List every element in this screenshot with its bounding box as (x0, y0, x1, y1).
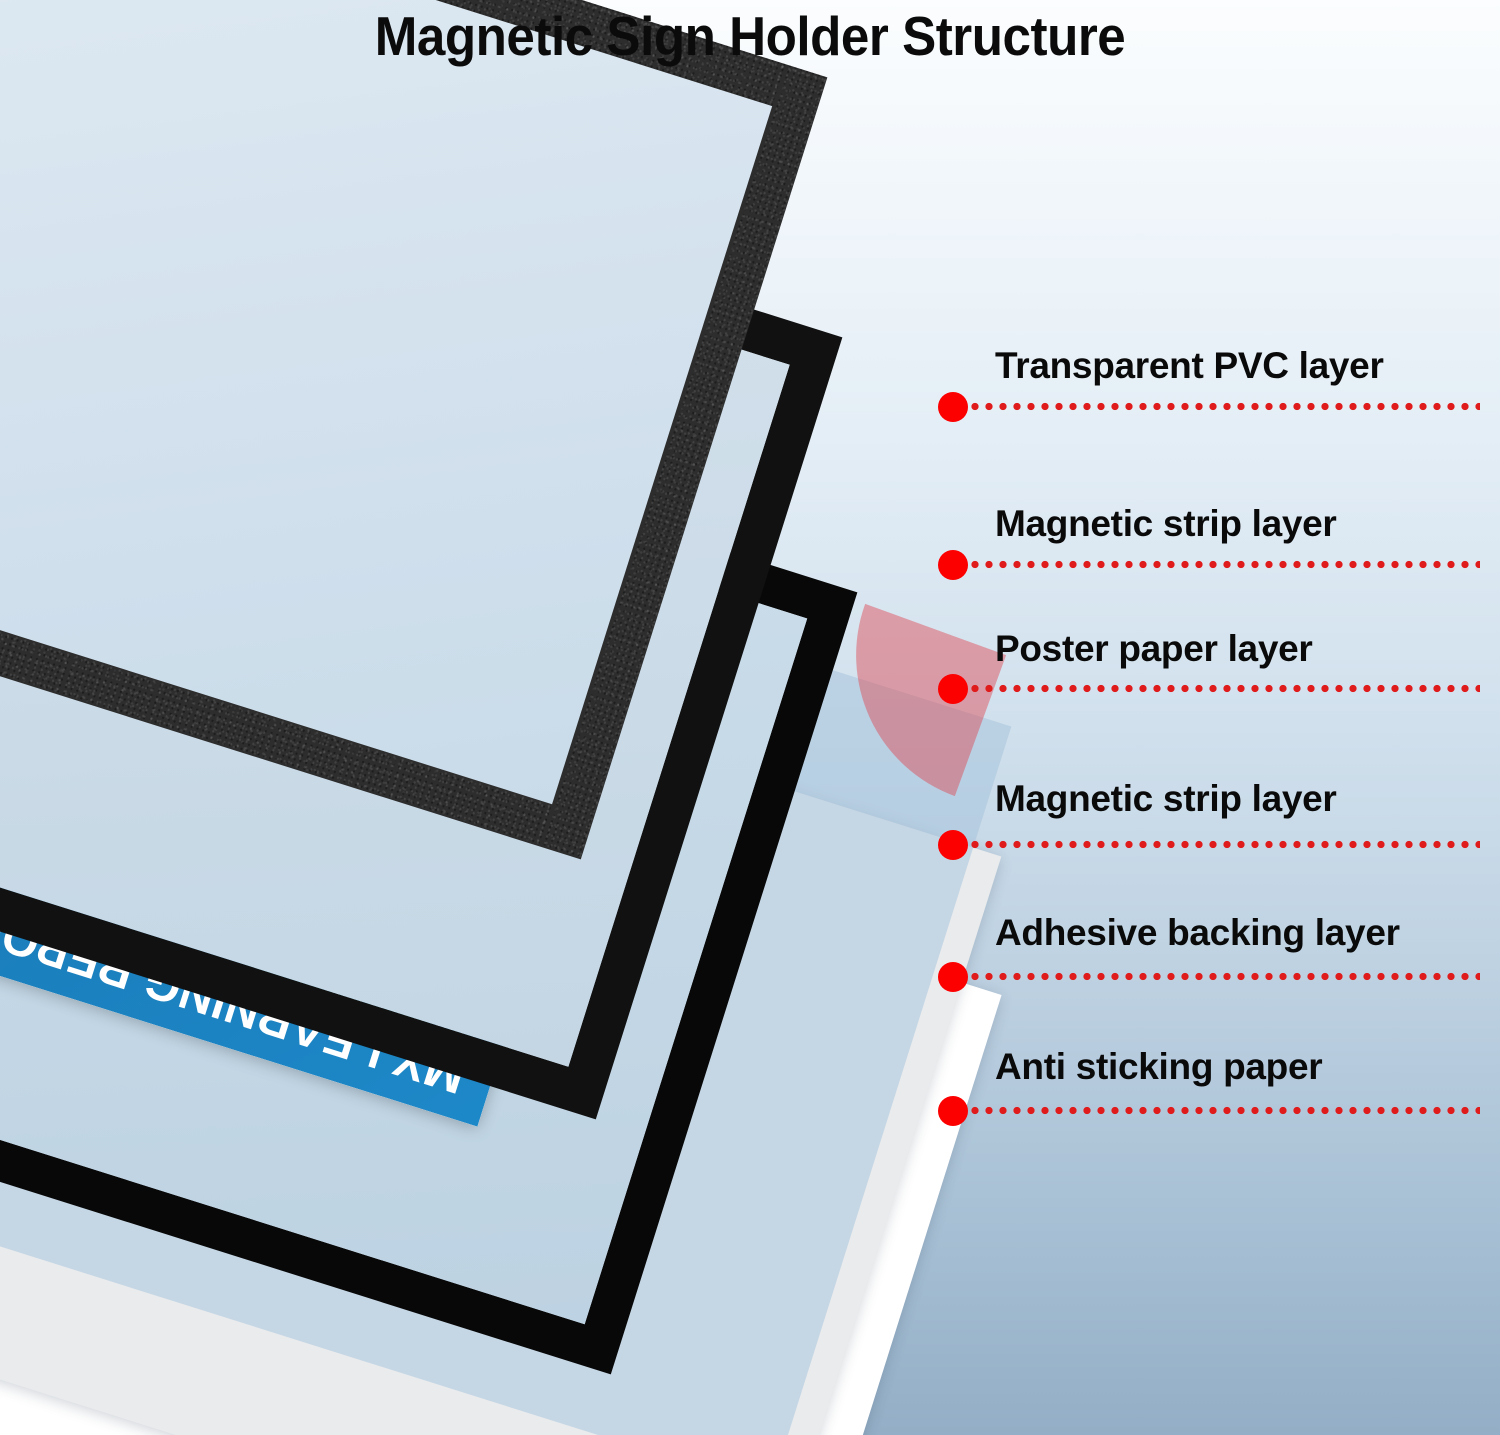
marker-adhesive-backing[interactable] (938, 962, 968, 992)
leader-poster-paper (968, 684, 1480, 693)
callout-magnetic-strip-bottom: Magnetic strip layer (995, 778, 1337, 820)
marker-poster-paper[interactable] (938, 674, 968, 704)
marker-magnetic-strip-top[interactable] (938, 550, 968, 580)
page-title: Magnetic Sign Holder Structure (53, 0, 1448, 72)
marker-magnetic-strip-bottom[interactable] (938, 830, 968, 860)
marker-transparent-pvc[interactable] (938, 392, 968, 422)
callout-poster-paper: Poster paper layer (995, 628, 1312, 670)
leader-anti-sticking-paper (968, 1106, 1480, 1115)
leader-adhesive-backing (968, 972, 1480, 981)
callout-anti-sticking-paper: Anti sticking paper (995, 1046, 1322, 1088)
leader-magnetic-strip-bottom (968, 840, 1480, 849)
leader-magnetic-strip-top (968, 560, 1480, 569)
marker-anti-sticking-paper[interactable] (938, 1096, 968, 1126)
leader-transparent-pvc (968, 402, 1480, 411)
callout-magnetic-strip-top: Magnetic strip layer (995, 503, 1337, 545)
callout-transparent-pvc: Transparent PVC layer (995, 345, 1384, 387)
callout-adhesive-backing: Adhesive backing layer (995, 912, 1400, 954)
exploded-layer-stack: MY LEARNING REPORT Early Years Progress … (0, 0, 1500, 1435)
